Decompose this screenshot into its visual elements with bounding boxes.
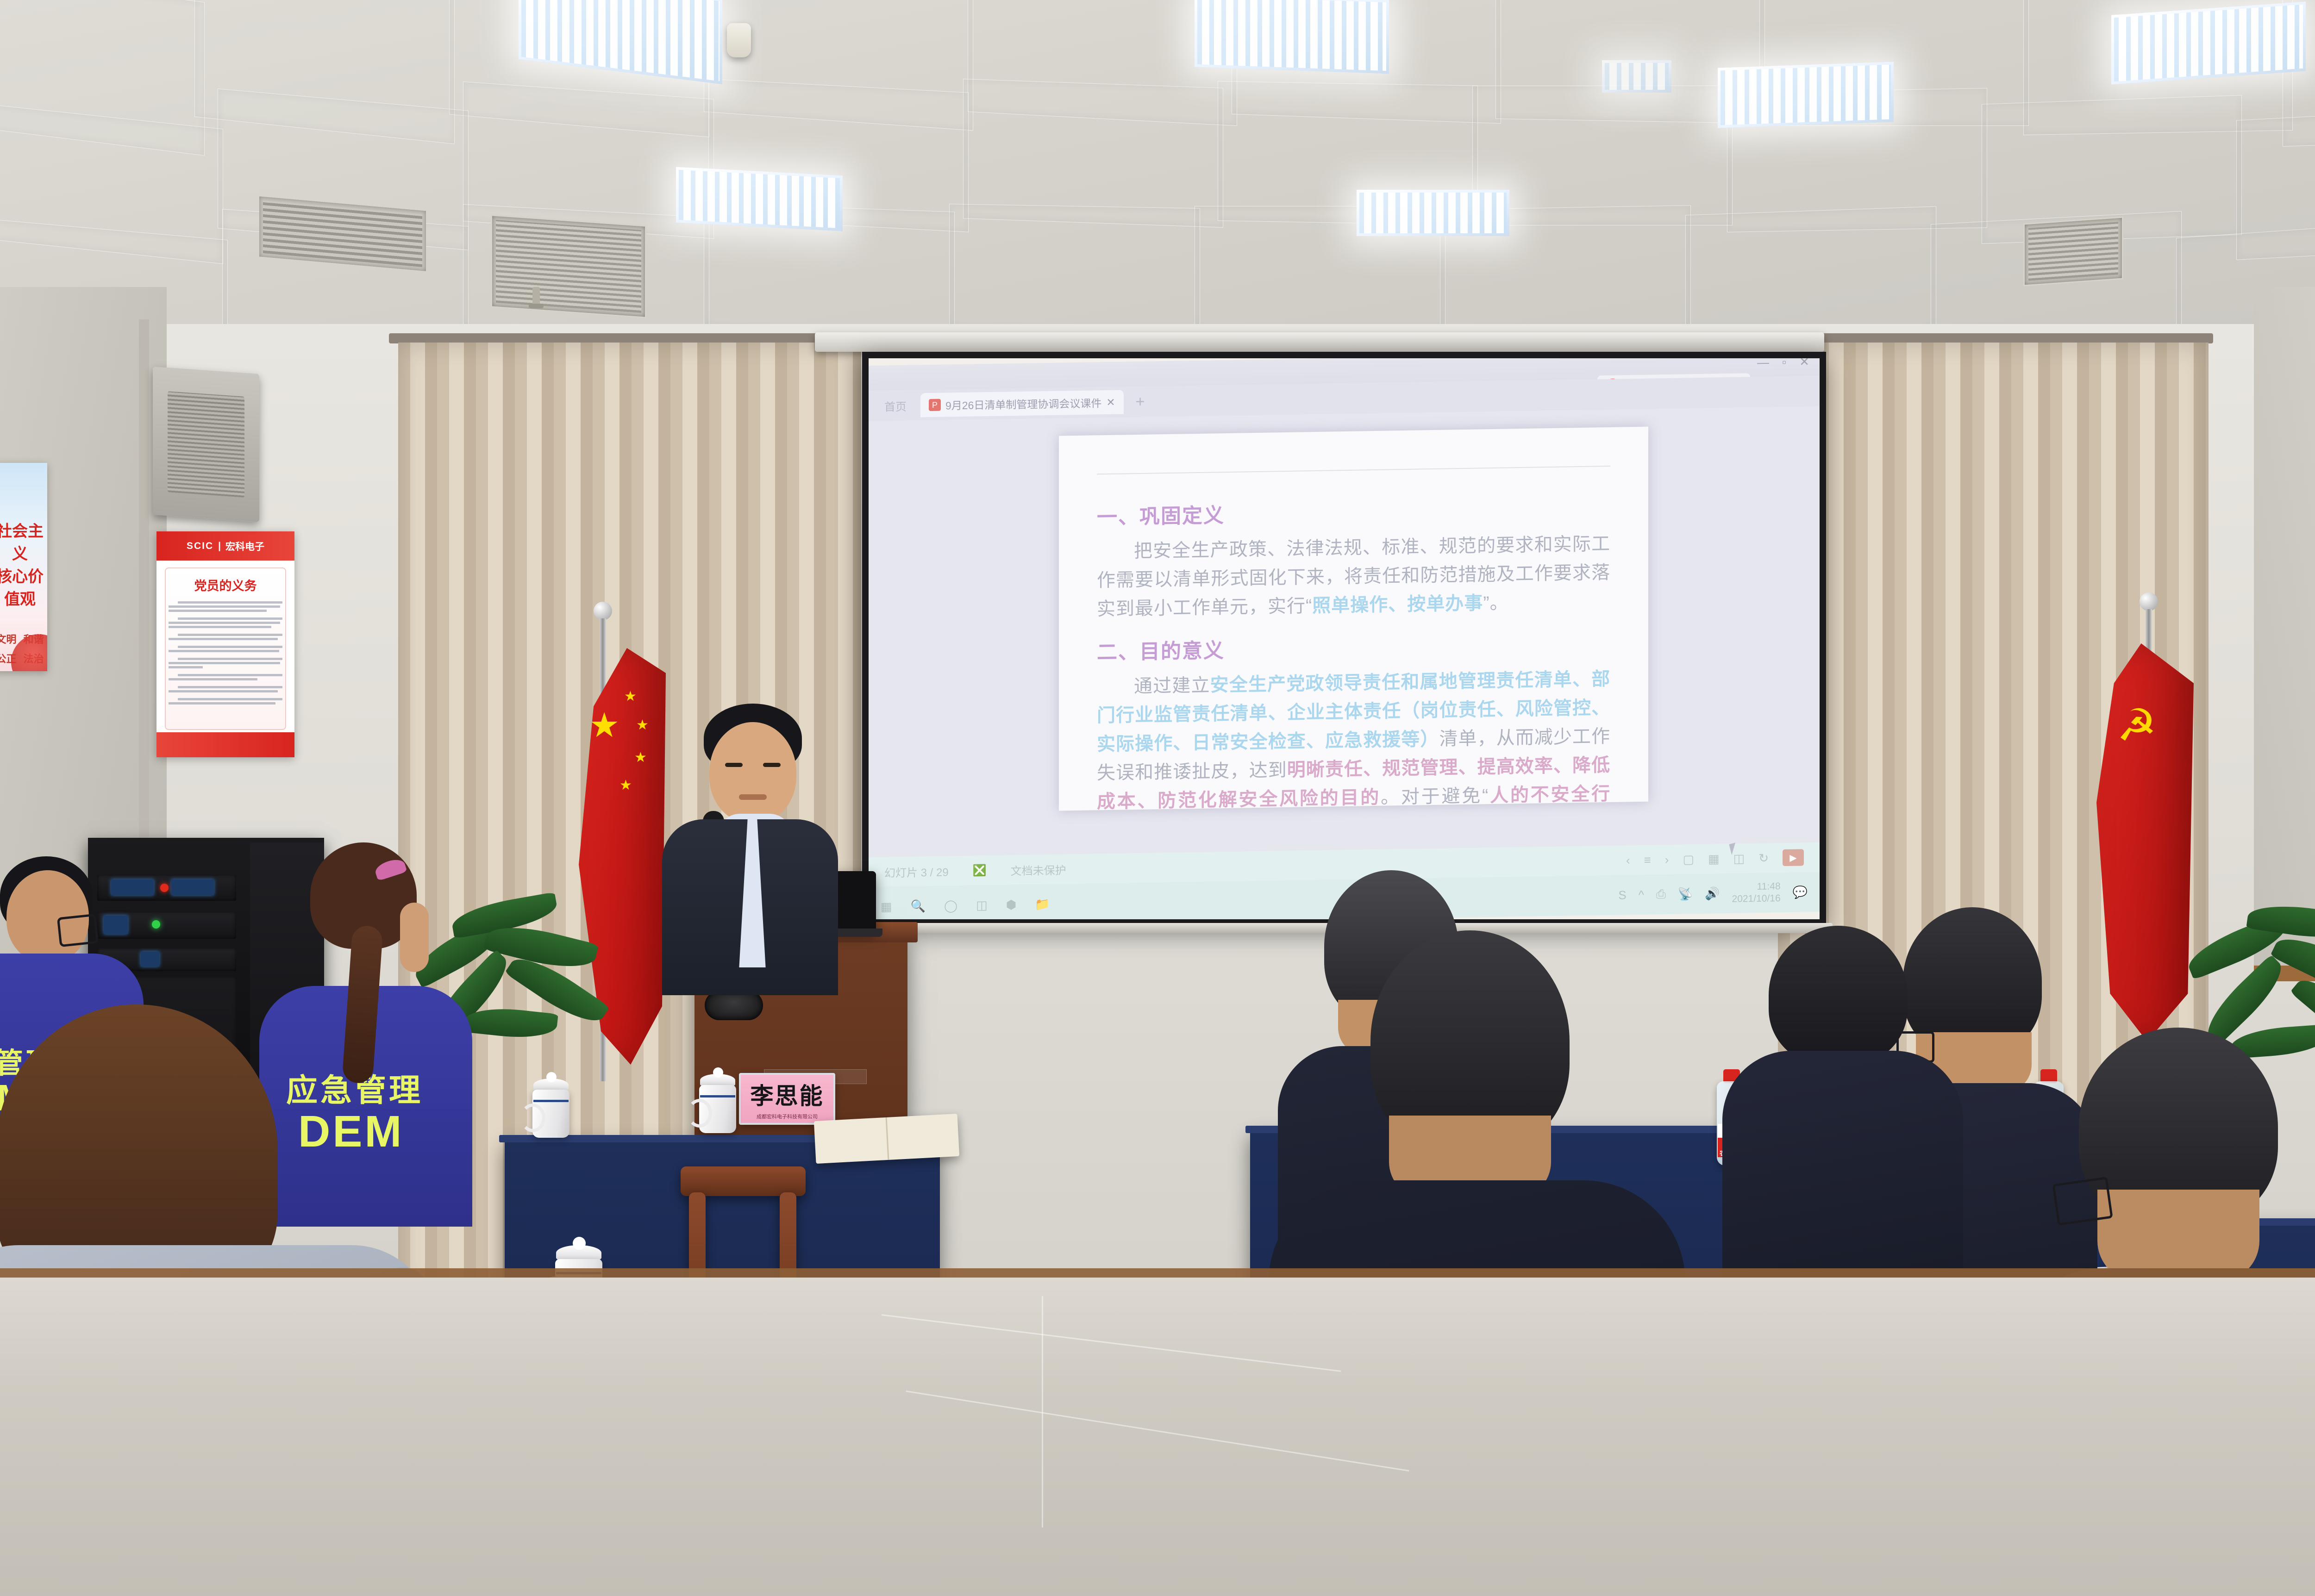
- close-icon[interactable]: ✕: [1799, 355, 1809, 368]
- floor: [0, 1278, 2315, 1596]
- maximize-icon[interactable]: ▫: [1782, 356, 1786, 368]
- projector-screen-housing: [815, 332, 1824, 352]
- clock-date: 2021/10/16: [1732, 892, 1781, 905]
- poster-party-duty: SCIC | 宏科电子 党员的义务: [156, 531, 294, 757]
- view-normal-icon[interactable]: ▢: [1683, 852, 1694, 867]
- minimize-icon[interactable]: —: [1757, 356, 1769, 368]
- eyeglasses: [2052, 1177, 2113, 1226]
- zoom-reset-icon[interactable]: ↻: [1758, 851, 1769, 865]
- fire-sprinkler-icon: [532, 287, 540, 305]
- conference-room-photo: 社会主义 核心价值观 文明 和谐 公正 法治 诚信 友善 SCIC | 宏科电子…: [0, 0, 2315, 1596]
- slide-page: 一、巩固定义 把安全生产政策、法律法规、标准、规范的要求和实际工作需要以清单形式…: [1059, 426, 1648, 810]
- slide-heading-1: 一、巩固定义: [1097, 493, 1610, 530]
- play-slideshow-button[interactable]: ▶: [1783, 849, 1804, 866]
- protection-status-label: 文档未保护: [1011, 861, 1066, 878]
- slide-paragraph-2: 通过建立安全生产党政领导责任和属地管理责任清单、部门行业监管责任清单、企业主体责…: [1097, 665, 1610, 811]
- poster-party-duty-title: 党员的义务: [169, 576, 282, 594]
- tea-mug: [528, 1079, 574, 1140]
- core-values-title-line2: 核心价值观: [0, 564, 47, 609]
- tray-chevron-icon[interactable]: ^: [1639, 887, 1644, 902]
- windows-start-icon[interactable]: ▦: [881, 899, 892, 914]
- network-icon[interactable]: 📡: [1678, 887, 1693, 902]
- notification-icon[interactable]: 💬: [1793, 885, 1808, 900]
- smoke-detector-icon: [727, 23, 751, 57]
- ceiling-light: [2111, 1, 2306, 84]
- right-wall: [2254, 287, 2315, 981]
- view-sorter-icon[interactable]: ▦: [1708, 852, 1720, 866]
- screenshot-icon[interactable]: ⎙: [1656, 887, 1666, 902]
- tea-mug: [694, 1074, 741, 1135]
- poster-brand-scic: SCIC: [187, 541, 213, 552]
- core-values-title-line1: 社会主义: [0, 518, 47, 564]
- shield-x-icon: ❎: [973, 864, 987, 877]
- slide-p2-q-open: “: [1482, 786, 1489, 806]
- tab-home[interactable]: 首页: [878, 397, 913, 414]
- nameplate-name: 李思能: [751, 1078, 824, 1111]
- slide-counter: 幻灯片 3 / 29: [884, 863, 949, 880]
- person-presenter: [648, 704, 843, 991]
- nav-prev-button[interactable]: ‹: [1626, 853, 1630, 867]
- slide-p1-quote-close: ”。: [1483, 592, 1508, 613]
- nameplate-org: 成都宏科电子科技有限公司: [757, 1113, 818, 1120]
- nav-menu-button[interactable]: ≡: [1644, 853, 1651, 867]
- nameplate-li-sineng: 李思能 成都宏科电子科技有限公司: [739, 1073, 835, 1125]
- nav-next-button[interactable]: ›: [1665, 852, 1669, 867]
- slide-p2-c: 。对于避免: [1381, 786, 1482, 807]
- slide-p2-a: 通过建立: [1134, 675, 1210, 697]
- tab-close-icon[interactable]: ✕: [1106, 396, 1115, 408]
- slide-p1-highlight: 照单操作、按单办事: [1312, 593, 1483, 616]
- sogou-icon[interactable]: S: [1618, 888, 1626, 902]
- slide-canvas: 一、巩固定义 把安全生产政策、法律法规、标准、规范的要求和实际工作需要以清单形式…: [869, 406, 1820, 857]
- tab-document[interactable]: P 9月26日清单制管理协调会议课件 ✕: [920, 390, 1124, 417]
- tab-document-label: 9月26日清单制管理协调会议课件: [945, 394, 1101, 412]
- search-icon[interactable]: 🔍: [911, 899, 926, 914]
- new-tab-button[interactable]: +: [1131, 393, 1145, 411]
- ceiling-light: [1718, 62, 1894, 128]
- ceiling-light: [1195, 0, 1389, 74]
- powerpoint-file-icon: P: [929, 399, 941, 411]
- file-explorer-icon[interactable]: 📁: [1035, 897, 1050, 911]
- ceiling: [0, 0, 2315, 352]
- wall-speaker: [153, 367, 259, 522]
- ceiling-air-vent: [491, 214, 646, 318]
- projected-desktop: — ▫ ✕ S 中 🎤 ⌨ ▦ 访客登录 首页 P 9月26日清单制管理协调会议…: [869, 352, 1820, 926]
- taskbar-clock[interactable]: 11:48 2021/10/16: [1732, 880, 1781, 905]
- projection-screen: — ▫ ✕ S 中 🎤 ⌨ ▦ 访客登录 首页 P 9月26日清单制管理协调会议…: [862, 352, 1826, 926]
- slide-heading-2: 二、目的意义: [1097, 628, 1610, 665]
- slide-p1-quote-open: “: [1306, 596, 1312, 616]
- cortana-circle-icon[interactable]: ◯: [944, 898, 957, 913]
- eyeglasses: [57, 914, 99, 947]
- ceiling-light: [1602, 60, 1671, 93]
- task-view-icon[interactable]: ◫: [976, 898, 988, 912]
- presenter-head: [709, 722, 796, 823]
- open-notebook: [814, 1114, 959, 1164]
- poster-brand-sep: |: [218, 541, 221, 552]
- poster-brand-hongke: 宏科电子: [225, 539, 264, 553]
- ceiling-air-vent: [2023, 216, 2123, 286]
- volume-icon[interactable]: 🔊: [1705, 886, 1720, 901]
- slide-paragraph-1: 把安全生产政策、法律法规、标准、规范的要求和实际工作需要以清单形式固化下来，将责…: [1097, 530, 1610, 623]
- clock-time: 11:48: [1757, 880, 1781, 893]
- ceiling-light: [1357, 190, 1509, 236]
- wps-icon[interactable]: ⬢: [1006, 898, 1017, 912]
- poster-core-values: 社会主义 核心价值观 文明 和谐 公正 法治 诚信 友善: [0, 463, 47, 671]
- ceiling-light: [676, 167, 843, 231]
